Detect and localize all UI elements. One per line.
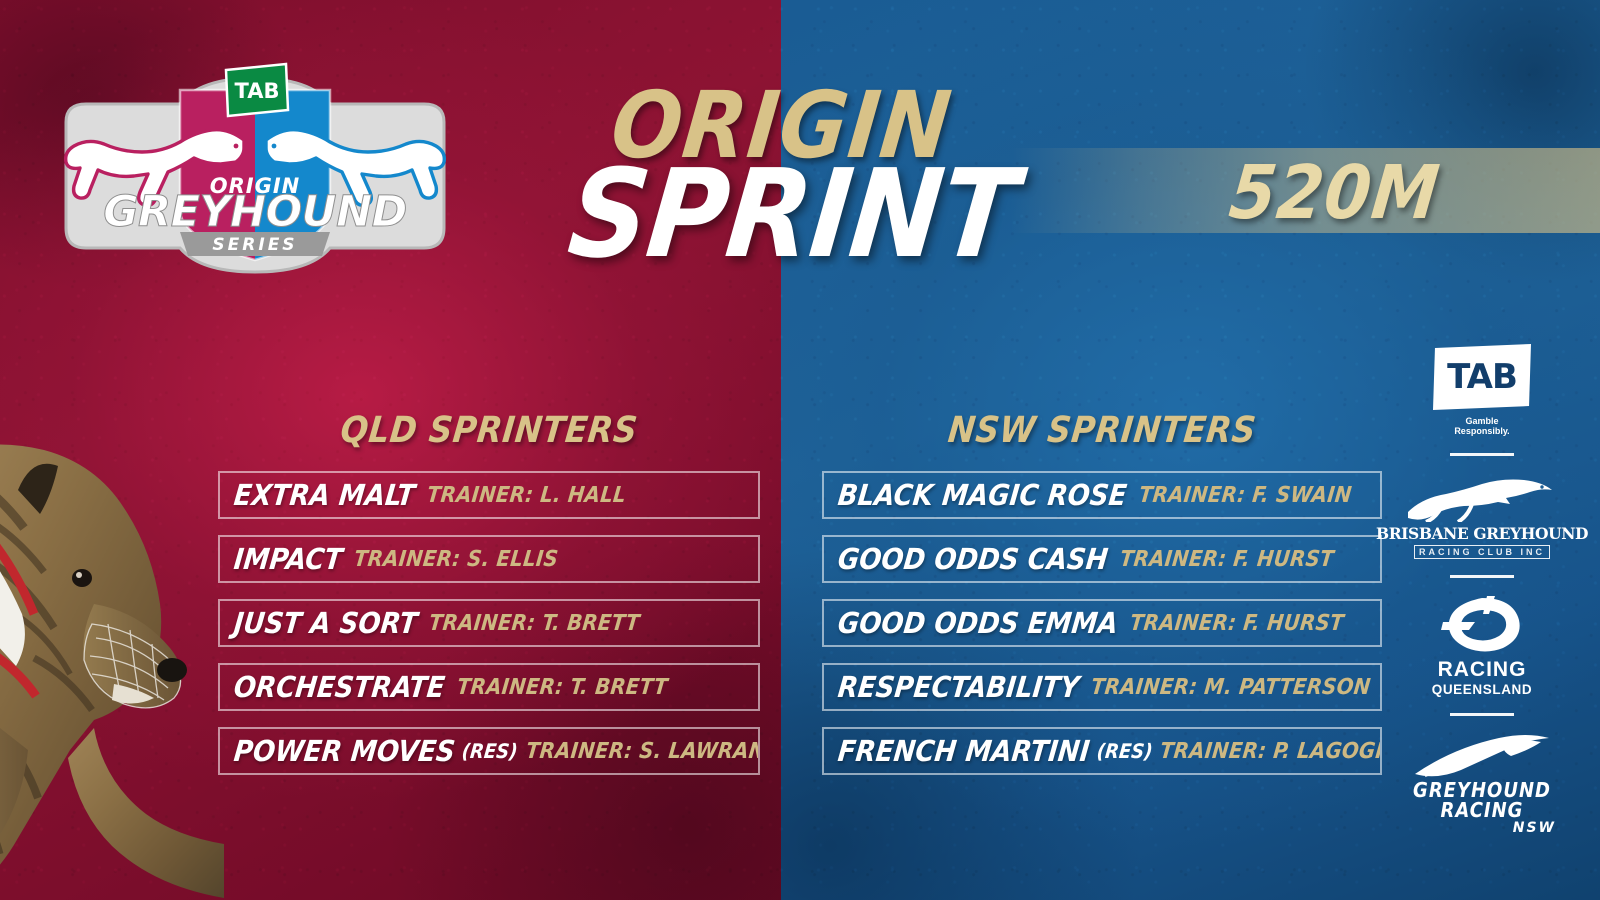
entry-row[interactable]: BLACK MAGIC ROSE TRAINER: F. SWAIN bbox=[822, 471, 1382, 519]
greyhound-foreleg-rear bbox=[68, 728, 224, 898]
sponsor-divider bbox=[1450, 713, 1514, 716]
entry-row[interactable]: IMPACT TRAINER: S. ELLIS bbox=[218, 535, 760, 583]
entry-row[interactable]: POWER MOVES (RES) TRAINER: S. LAWRANCE bbox=[218, 727, 760, 775]
tab-logo-icon: TAB bbox=[1433, 344, 1531, 410]
brisbane-greyhound-sub: RACING CLUB INC bbox=[1414, 545, 1550, 559]
poster-canvas: TAB ORIGIN GREYHOUND SERIES ORIGIN SPRIN… bbox=[0, 0, 1600, 900]
trainer-name: TRAINER: F. HURST bbox=[1119, 547, 1335, 572]
crest-tab-badge-label: TAB bbox=[235, 79, 280, 103]
sponsor-racing-queensland[interactable]: RACING QUEENSLAND bbox=[1392, 594, 1572, 697]
greyhound-nose bbox=[157, 658, 187, 682]
trainer-name: TRAINER: L. HALL bbox=[426, 483, 628, 508]
trainer-name: TRAINER: T. BRETT bbox=[455, 675, 668, 700]
crest-tab-badge: TAB bbox=[226, 64, 288, 116]
greyhound-eye bbox=[72, 569, 92, 587]
grnsw-line2: RACING bbox=[1441, 798, 1524, 822]
brisbane-greyhound-icon bbox=[1402, 472, 1562, 522]
entry-row[interactable]: EXTRA MALT TRAINER: L. HALL bbox=[218, 471, 760, 519]
dog-name: GOOD ODDS EMMA bbox=[836, 606, 1119, 640]
column-heading-qld: QLD SPRINTERS bbox=[216, 410, 762, 451]
dog-name: ORCHESTRATE bbox=[232, 670, 446, 704]
dog-name: JUST A SORT bbox=[232, 606, 419, 640]
sponsor-divider bbox=[1450, 575, 1514, 578]
trainer-name: TRAINER: F. HURST bbox=[1129, 611, 1345, 636]
dog-name: POWER MOVES bbox=[232, 734, 457, 768]
trainer-name: TRAINER: P. LAGOGIANE bbox=[1159, 739, 1382, 764]
greyhound-body bbox=[0, 445, 224, 898]
reserve-tag: (RES) bbox=[1095, 739, 1153, 763]
column-qld: QLD SPRINTERS EXTRA MALT TRAINER: L. HAL… bbox=[218, 410, 760, 791]
racing-queensland-icon bbox=[1439, 594, 1525, 654]
reserve-tag: (RES) bbox=[461, 739, 519, 763]
dog-name: EXTRA MALT bbox=[232, 478, 416, 512]
trainer-name: TRAINER: S. LAWRANCE bbox=[524, 739, 760, 764]
entry-row[interactable]: GOOD ODDS CASH TRAINER: F. HURST bbox=[822, 535, 1382, 583]
grnsw-line3: NSW bbox=[1513, 820, 1556, 836]
trainer-name: TRAINER: F. SWAIN bbox=[1137, 483, 1352, 508]
dog-name: GOOD ODDS CASH bbox=[836, 542, 1109, 576]
column-heading-nsw: NSW SPRINTERS bbox=[820, 410, 1384, 451]
crest-word-series: SERIES bbox=[212, 235, 297, 255]
sponsor-rail: TAB Gamble Responsibly. BRISBANE GREYHOU… bbox=[1392, 344, 1572, 836]
tab-gamble-line2: Responsibly. bbox=[1454, 426, 1509, 436]
greyhound-photo bbox=[0, 398, 224, 898]
entry-row[interactable]: ORCHESTRATE TRAINER: T. BRETT bbox=[218, 663, 760, 711]
sponsor-divider bbox=[1450, 453, 1514, 456]
trainer-name: TRAINER: S. ELLIS bbox=[353, 547, 560, 572]
tab-gamble-line1: Gamble bbox=[1454, 416, 1509, 426]
sponsor-tab[interactable]: TAB Gamble Responsibly. bbox=[1392, 344, 1572, 437]
racing-queensland-word: RACING bbox=[1438, 658, 1527, 682]
entry-row[interactable]: GOOD ODDS EMMA TRAINER: F. HURST bbox=[822, 599, 1382, 647]
title-sprint: SPRINT bbox=[563, 143, 1023, 285]
crest-word-greyhound: GREYHOUND bbox=[103, 187, 407, 237]
trainer-name: TRAINER: T. BRETT bbox=[428, 611, 641, 636]
trainer-name: TRAINER: M. PATTERSON bbox=[1090, 675, 1372, 700]
entry-row[interactable]: JUST A SORT TRAINER: T. BRETT bbox=[218, 599, 760, 647]
brisbane-greyhound-name: BRISBANE GREYHOUND bbox=[1376, 524, 1588, 543]
tab-gamble-responsibly: Gamble Responsibly. bbox=[1454, 416, 1509, 437]
tab-logo-label: TAB bbox=[1447, 357, 1517, 397]
sponsor-brisbane-greyhound-racing-club[interactable]: BRISBANE GREYHOUND RACING CLUB INC bbox=[1392, 472, 1572, 559]
origin-greyhound-series-logo: TAB ORIGIN GREYHOUND SERIES bbox=[30, 60, 480, 280]
dog-name: FRENCH MARTINI bbox=[836, 734, 1091, 768]
sponsor-greyhound-racing-nsw[interactable]: GREYHOUND RACING NSW bbox=[1392, 732, 1572, 836]
dog-name: BLACK MAGIC ROSE bbox=[836, 478, 1128, 512]
entry-row[interactable]: FRENCH MARTINI (RES) TRAINER: P. LAGOGIA… bbox=[822, 727, 1382, 775]
dog-name: RESPECTABILITY bbox=[836, 670, 1081, 704]
grnsw-swoosh-icon bbox=[1407, 732, 1557, 778]
racing-queensland-sub: QUEENSLAND bbox=[1432, 682, 1533, 697]
entry-row[interactable]: RESPECTABILITY TRAINER: M. PATTERSON bbox=[822, 663, 1382, 711]
dog-name: IMPACT bbox=[232, 542, 344, 576]
column-nsw: NSW SPRINTERS BLACK MAGIC ROSE TRAINER: … bbox=[822, 410, 1382, 791]
distance-label: 520M bbox=[1225, 150, 1443, 236]
